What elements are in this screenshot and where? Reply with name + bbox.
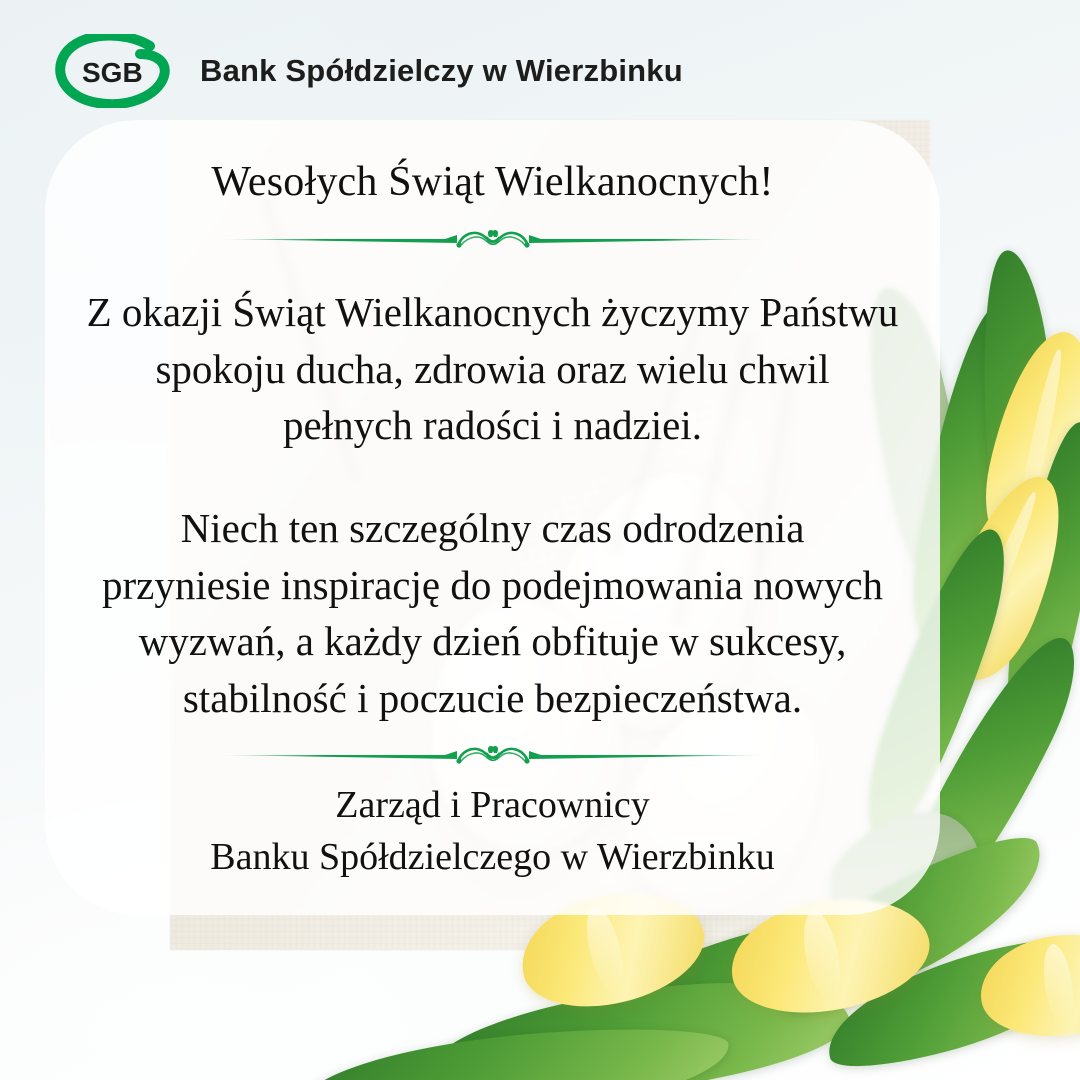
brand-header: SGB Bank Spółdzielczy w Wierzbinku — [54, 34, 683, 108]
greeting-paragraph-1: Z okazji Świąt Wielkanocnych życzymy Pań… — [73, 284, 913, 454]
signature-block: Zarząd i Pracownicy Banku Spółdzielczego… — [210, 780, 774, 883]
greeting-content: Wesołych Świąt Wielkanocnych! — [45, 120, 940, 915]
greeting-paragraph-2: Niech ten szczególny czas odrodzenia prz… — [88, 500, 897, 726]
greeting-headline: Wesołych Świąt Wielkanocnych! — [211, 158, 773, 206]
greeting-card-image: SGB Bank Spółdzielczy w Wierzbinku Wesoł… — [0, 0, 1080, 1080]
flourish-divider-icon-bottom — [213, 740, 773, 770]
flourish-divider-icon-top — [213, 224, 773, 254]
svg-text:SGB: SGB — [82, 57, 143, 88]
bank-name-label: Bank Spółdzielczy w Wierzbinku — [200, 53, 683, 89]
sgb-swoosh-logo-icon: SGB — [54, 34, 178, 108]
